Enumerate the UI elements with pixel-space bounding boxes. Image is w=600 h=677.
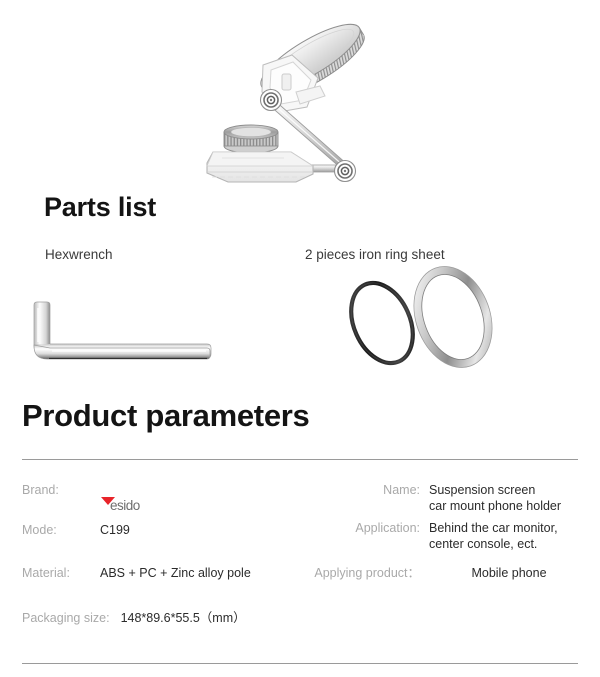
spec-row-application: Application: Behind the car monitor, cen… (310, 520, 600, 552)
spec-value-packaging-size: 148*89.6*55.5（mm） (121, 610, 246, 626)
spec-value-applying-product: Mobile phone (429, 565, 589, 581)
spec-value-mode: C199 (100, 522, 130, 538)
part-label-iron-ring-sheet: 2 pieces iron ring sheet (305, 247, 445, 262)
upper-pivot-screw (261, 90, 282, 111)
spec-value-material: ABS + PC + Zinc alloy pole (100, 565, 251, 581)
hex-wrench-icon (22, 296, 232, 372)
spec-label-mode: Mode: (22, 522, 100, 538)
product-illustration (0, 0, 600, 190)
divider-top (22, 459, 578, 460)
spec-label-brand: Brand: (22, 482, 100, 498)
lower-pivot-screw (335, 161, 356, 182)
part-label-hexwrench: Hexwrench (45, 247, 113, 262)
spec-row-name: Name: Suspension screen car mount phone … (310, 482, 600, 514)
spec-label-applying-product: Applying product： (310, 565, 420, 581)
knurled-knob (224, 125, 278, 153)
spec-row-material: Material: ABS + PC + Zinc alloy pole (22, 565, 251, 581)
spec-value-name: Suspension screen car mount phone holder (429, 482, 561, 514)
divider-bottom (22, 663, 578, 664)
spec-label-name: Name: (310, 482, 420, 498)
parts-list-title: Parts list (44, 192, 156, 223)
spec-label-material: Material: (22, 565, 100, 581)
spec-row-mode: Mode: C199 (22, 522, 130, 538)
adhesive-base (207, 152, 313, 182)
spec-label-application: Application: (310, 520, 420, 536)
svg-text:esido: esido (110, 498, 140, 513)
iron-ring-sheet-icon (340, 265, 515, 370)
spec-label-packaging-size: Packaging size: (22, 610, 110, 626)
spec-row-applying-product: Applying product： Mobile phone (310, 565, 600, 581)
spec-row-packaging-size: Packaging size: 148*89.6*55.5（mm） (22, 610, 246, 626)
spec-value-application: Behind the car monitor, center console, … (429, 520, 558, 552)
product-parameters-title: Product parameters (22, 398, 309, 434)
